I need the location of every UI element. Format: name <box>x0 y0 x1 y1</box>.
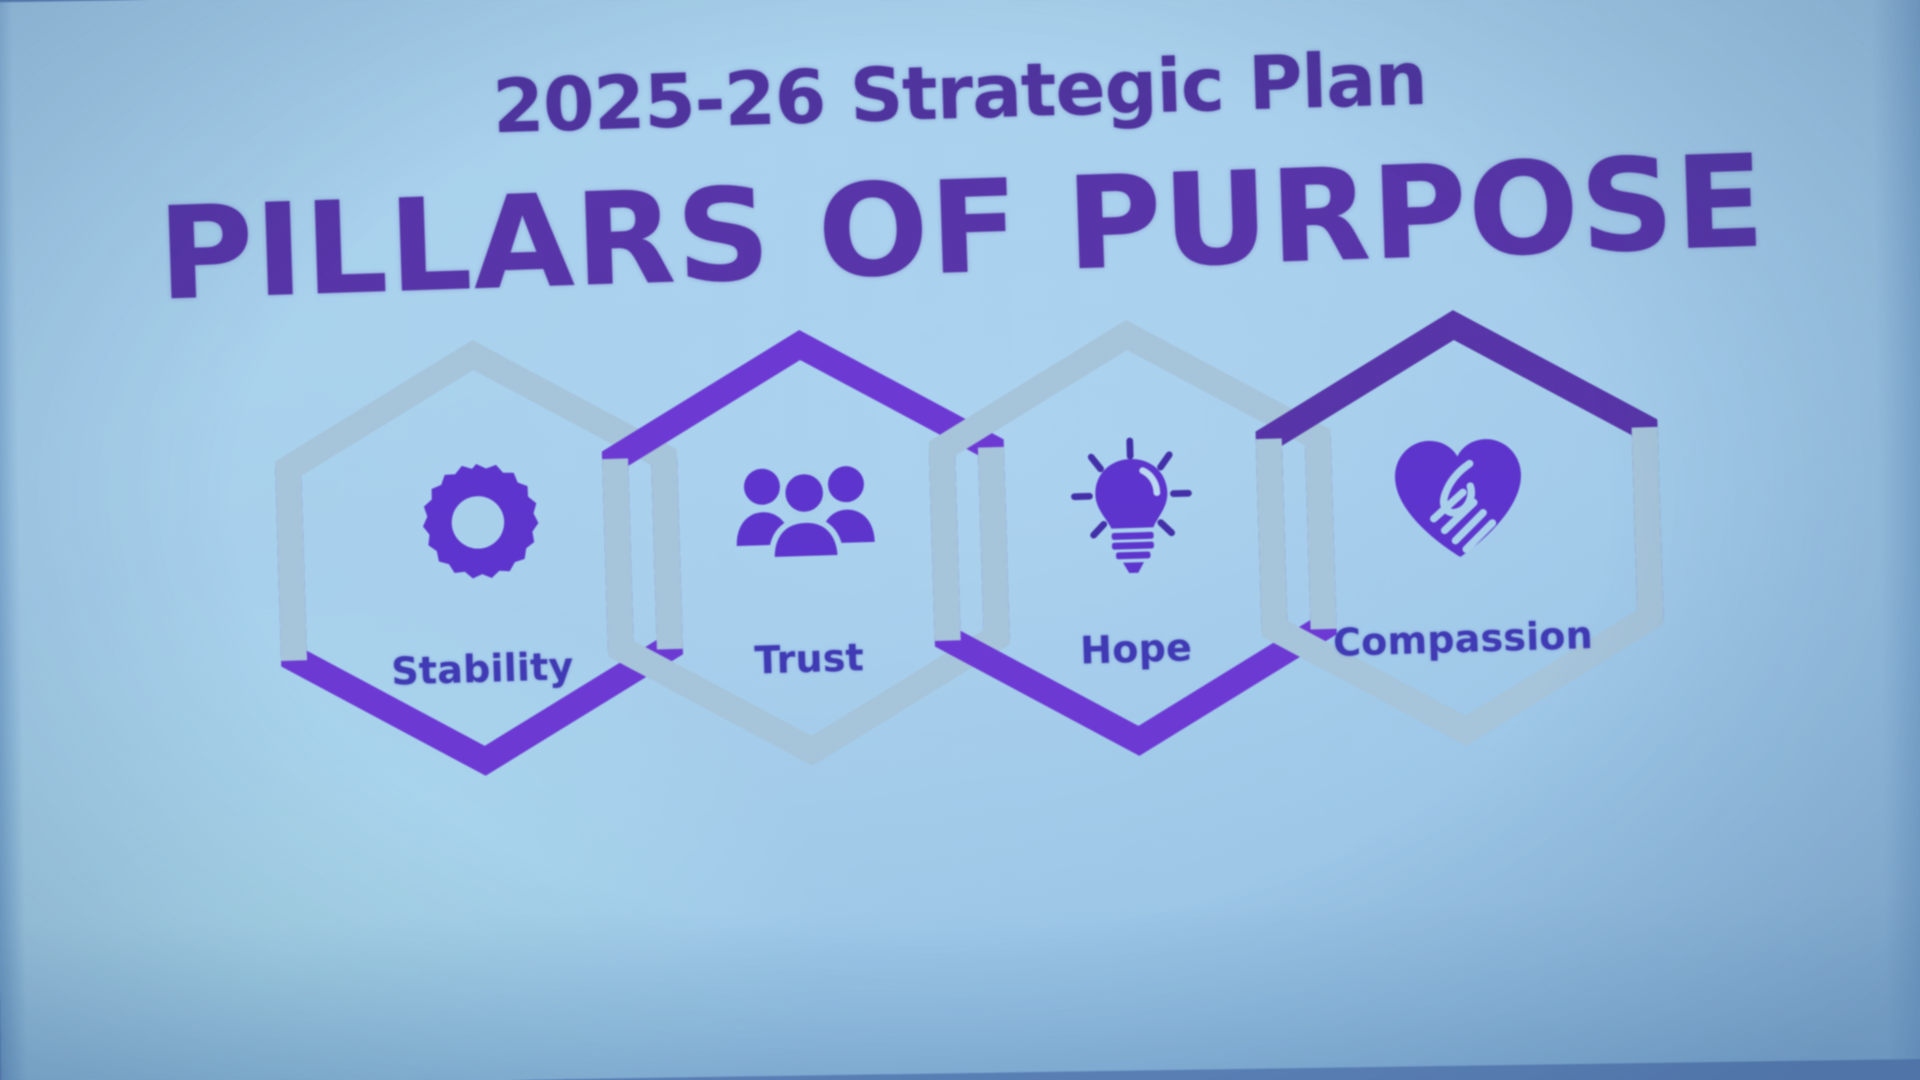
lightbulb-icon <box>1055 433 1210 588</box>
heart-hands-icon <box>1381 423 1536 578</box>
pillars-hexagon-row: Stability <box>273 307 1665 779</box>
projection-screen: 2025-26 Strategic Plan PILLARS OF PURPOS… <box>0 0 1920 1080</box>
projected-slide-photo: 2025-26 Strategic Plan PILLARS OF PURPOS… <box>0 0 1920 1080</box>
slide-content: 2025-26 Strategic Plan PILLARS OF PURPOS… <box>0 0 1920 1080</box>
gear-icon <box>401 453 556 608</box>
people-group-icon <box>728 443 883 598</box>
pillar-hexagon-compassion[interactable]: Compassion <box>1253 307 1666 749</box>
